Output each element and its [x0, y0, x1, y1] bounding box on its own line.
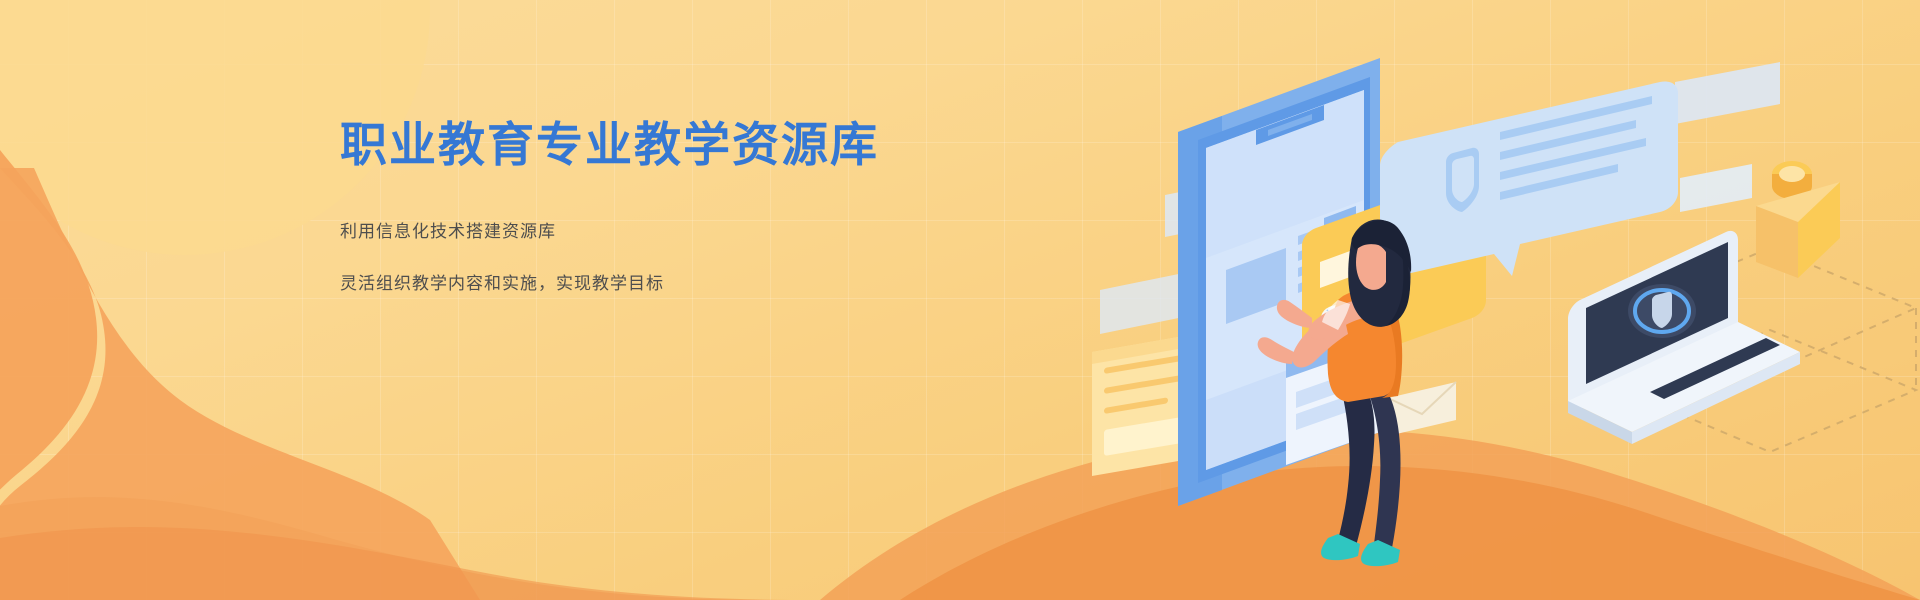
floating-panel-right-top: [1675, 62, 1780, 124]
laptop-shield-icon: [1628, 284, 1696, 338]
banner-subtitle-2: 灵活组织教学内容和实施，实现教学目标: [340, 269, 960, 294]
hero-banner: 职业教育专业教学资源库 利用信息化技术搭建资源库 灵活组织教学内容和实施，实现教…: [0, 0, 1920, 600]
floating-panel-right-small: [1680, 164, 1752, 212]
chat-bubble-card: [1380, 81, 1678, 276]
coin-stack: [1756, 161, 1840, 278]
page-title: 职业教育专业教学资源库: [340, 118, 960, 173]
banner-subtitle-1: 利用信息化技术搭建资源库: [340, 217, 960, 242]
hero-illustration: [1080, 0, 1920, 600]
banner-copy: 职业教育专业教学资源库 利用信息化技术搭建资源库 灵活组织教学内容和实施，实现教…: [340, 118, 960, 294]
